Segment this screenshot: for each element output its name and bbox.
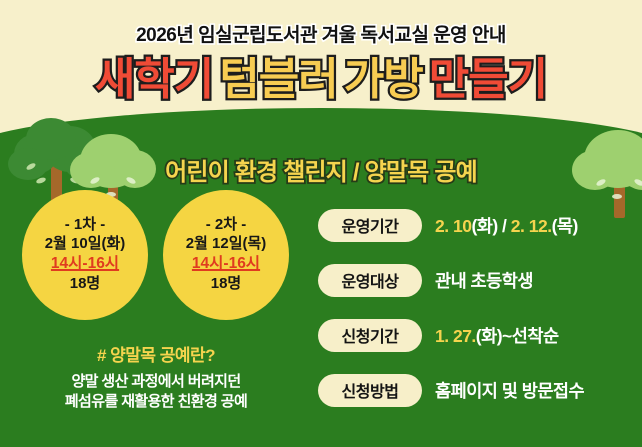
info-label-pill: 운영기간: [318, 209, 422, 242]
info-row: 운영기간2. 10(화) / 2. 12.(목): [318, 207, 634, 243]
info-row: 운영대상관내 초등학생: [318, 262, 634, 298]
session-time: 14시-16시: [192, 255, 260, 272]
info-list: 운영기간2. 10(화) / 2. 12.(목)운영대상관내 초등학생신청기간1…: [318, 207, 634, 427]
session-date: 2월 12일(목): [186, 236, 267, 253]
info-value: 2. 10(화) / 2. 12.(목): [435, 213, 578, 238]
session-capacity: 18명: [211, 276, 242, 293]
info-value-part: (목): [552, 216, 578, 236]
info-value-part: 홈페이지 및 방문접수: [435, 381, 584, 401]
poster-canvas: 2026년 임실군립도서관 겨울 독서교실 운영 안내 새학기텀블러가방만들기 …: [0, 0, 642, 447]
note-line: 양말 생산 과정에서 버려지던: [0, 372, 312, 392]
info-label-pill: 신청방법: [318, 374, 422, 407]
session-circle-2: - 2차 - 2월 12일(목) 14시-16시 18명: [163, 190, 289, 320]
info-value-part: (화) /: [471, 216, 510, 236]
note-heading: # 양말목 공예란?: [0, 345, 312, 368]
title-word: 만들기: [429, 57, 547, 103]
title-word: 새학기: [95, 57, 213, 103]
info-value: 관내 초등학생: [435, 268, 533, 293]
poster-main-title: 새학기텀블러가방만들기: [0, 57, 642, 103]
title-word: 텀블러: [219, 57, 337, 103]
info-value-part: 1. 27.: [435, 326, 476, 346]
session-circle-1: - 1차 - 2월 10일(화) 14시-16시 18명: [22, 190, 148, 320]
poster-subtitle: 2026년 임실군립도서관 겨울 독서교실 운영 안내: [0, 20, 642, 47]
session-order: - 2차 -: [206, 217, 246, 234]
info-value-part: 관내 초등학생: [435, 271, 533, 291]
title-word: 가방: [344, 57, 423, 103]
note-line: 폐섬유를 재활용한 친환경 공예: [0, 392, 312, 412]
info-value-part: 2. 12.: [511, 216, 552, 236]
session-order: - 1차 -: [65, 217, 105, 234]
info-row: 신청방법홈페이지 및 방문접수: [318, 372, 634, 408]
info-value: 1. 27.(화)~선착순: [435, 323, 559, 348]
note-block: # 양말목 공예란? 양말 생산 과정에서 버려지던 폐섬유를 재활용한 친환경…: [0, 345, 312, 412]
tree-leaf: [612, 194, 622, 199]
info-row: 신청기간1. 27.(화)~선착순: [318, 317, 634, 353]
session-time: 14시-16시: [51, 255, 119, 272]
info-label-pill: 운영대상: [318, 264, 422, 297]
session-capacity: 18명: [70, 276, 101, 293]
poster-band-title: 어린이 환경 챌린지 / 양말목 공예: [0, 152, 642, 187]
info-value-part: (화)~선착순: [476, 326, 559, 346]
info-value: 홈페이지 및 방문접수: [435, 378, 584, 403]
session-date: 2월 10일(화): [45, 236, 126, 253]
info-value-part: 2. 10: [435, 216, 471, 236]
info-label-pill: 신청기간: [318, 319, 422, 352]
